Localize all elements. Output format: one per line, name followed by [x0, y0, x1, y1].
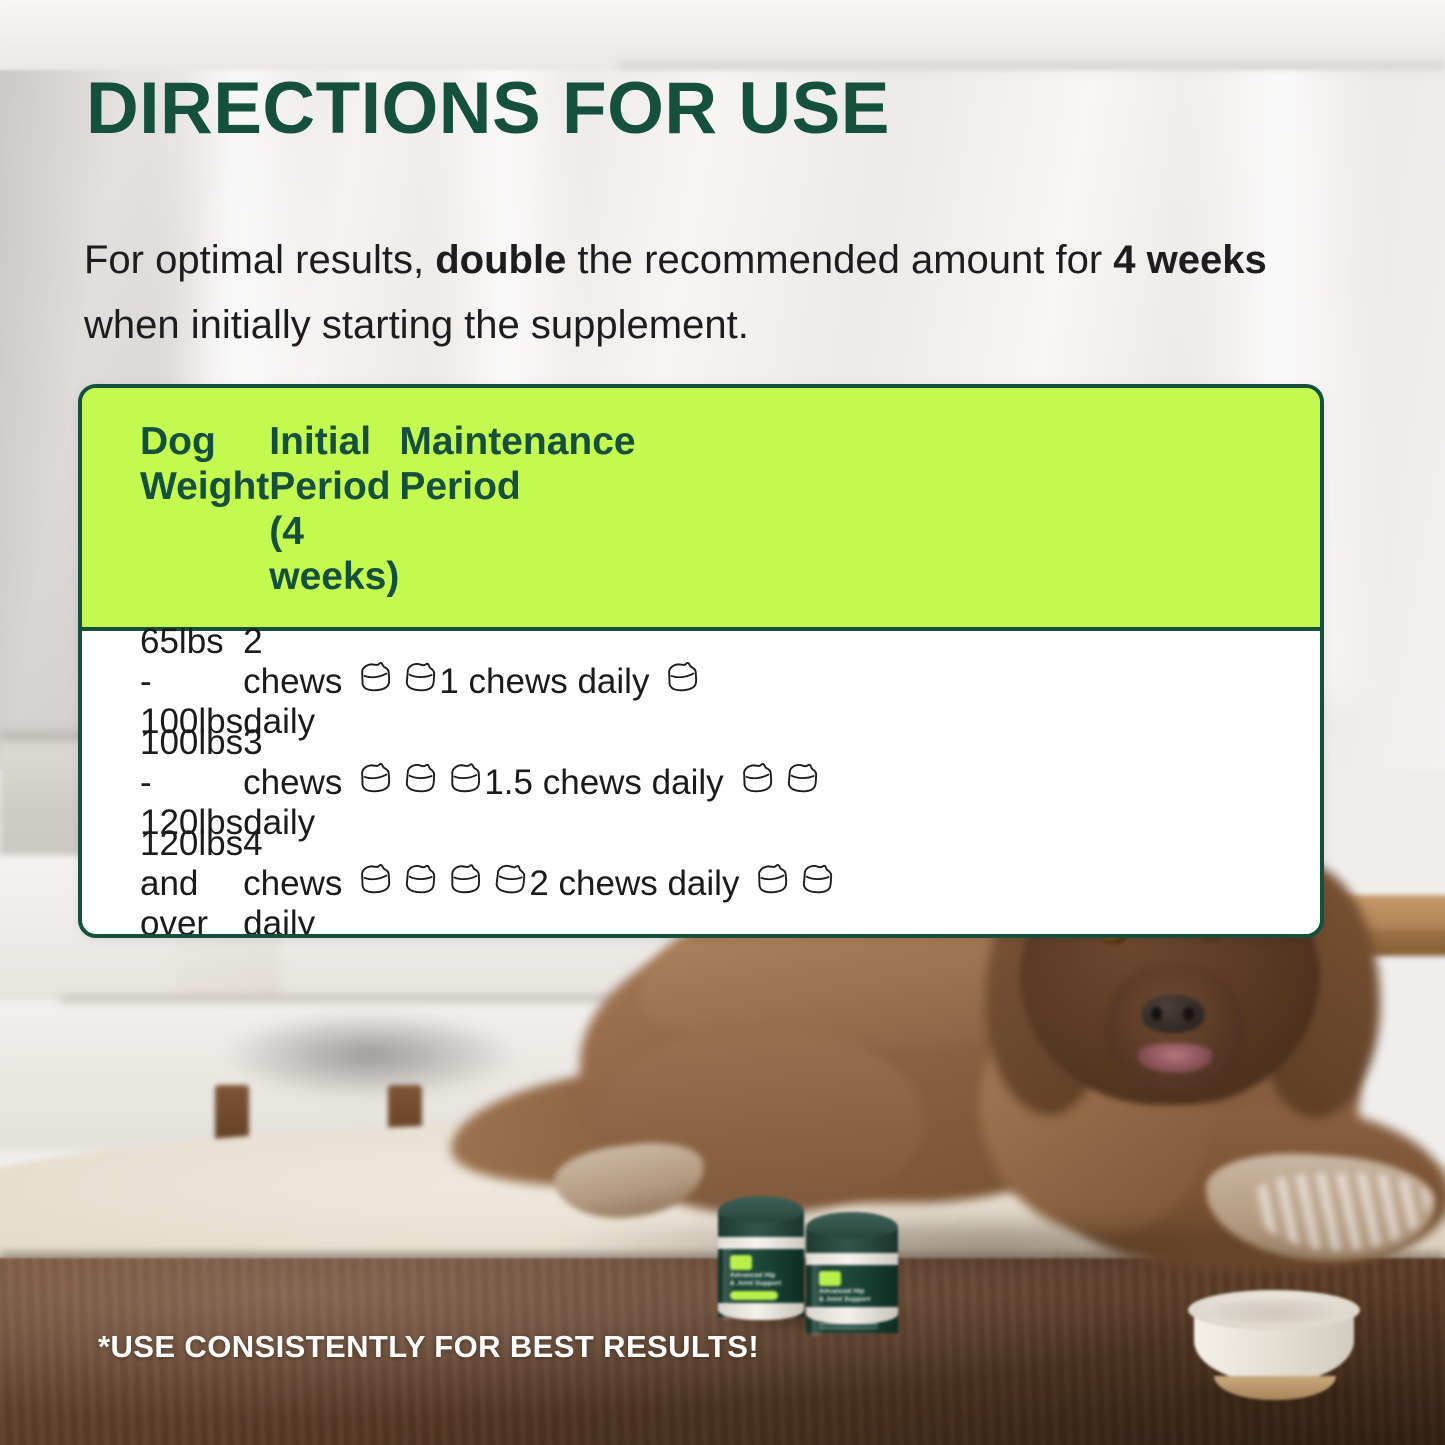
table-row: 65lbs - 100lbs 2 chews daily 1 chews dai…	[82, 631, 1320, 732]
chew-treat-icon	[356, 661, 394, 702]
chew-icon-group	[663, 661, 701, 702]
column-header-dog-weight: Dog Weight	[82, 420, 269, 599]
cell-initial-dose: 4 chews daily	[243, 824, 529, 939]
chew-treat-icon	[798, 863, 836, 904]
chew-treat-icon	[753, 863, 791, 904]
cell-maintenance-dose: 1 chews daily	[439, 661, 1320, 702]
column-header-initial-line2: (4 weeks)	[269, 510, 399, 600]
column-header-maintenance-line1: Maintenance	[399, 420, 1320, 465]
chew-treat-icon	[738, 762, 776, 803]
column-header-maintenance-line2: Period	[399, 465, 1320, 510]
column-header-initial-line1: Initial Period	[269, 420, 399, 510]
cell-dog-weight: 120lbs and over	[82, 824, 243, 939]
chew-treat-icon	[783, 762, 821, 803]
chew-treat-icon	[663, 661, 701, 702]
column-header-initial-period: Initial Period (4 weeks)	[269, 420, 399, 599]
subtitle-emphasis-weeks: 4 weeks	[1113, 238, 1266, 282]
maintenance-dose-text: 1 chews daily	[439, 662, 649, 702]
chew-icon-group	[356, 762, 484, 803]
subtitle-emphasis-double: double	[435, 238, 566, 282]
page-title: DIRECTIONS FOR USE	[86, 72, 890, 145]
subtitle-text-1: For optimal results,	[84, 238, 435, 282]
chew-treat-icon	[356, 762, 394, 803]
dosage-table: Dog Weight Initial Period (4 weeks) Main…	[78, 384, 1324, 938]
chew-treat-icon	[446, 863, 484, 904]
initial-dose-text: 4 chews daily	[243, 824, 342, 939]
chew-treat-icon	[401, 863, 439, 904]
cell-maintenance-dose: 2 chews daily	[529, 863, 1320, 904]
table-row: 100lbs - 120lbs 3 chews daily 1.5 chews …	[82, 732, 1320, 833]
subtitle-text-3: when initially starting the supplement.	[84, 303, 749, 347]
table-row: 120lbs and over 4 chews daily 2 chews da…	[82, 833, 1320, 934]
maintenance-dose-text: 2 chews daily	[529, 864, 739, 904]
chew-treat-icon	[401, 762, 439, 803]
footnote: *USE CONSISTENTLY FOR BEST RESULTS!	[98, 1329, 759, 1365]
chew-icon-group	[356, 863, 529, 904]
instruction-subtitle: For optimal results, double the recommen…	[84, 228, 1299, 358]
chew-icon-group	[753, 863, 836, 904]
chew-treat-icon	[446, 762, 484, 803]
subtitle-text-2: the recommended amount for	[566, 238, 1113, 282]
chew-treat-icon	[356, 863, 394, 904]
maintenance-dose-text: 1.5 chews daily	[484, 763, 723, 803]
chew-treat-icon	[491, 863, 529, 904]
chew-icon-group	[356, 661, 439, 702]
chew-icon-group	[738, 762, 821, 803]
chew-treat-icon	[401, 661, 439, 702]
cell-maintenance-dose: 1.5 chews daily	[484, 762, 1320, 803]
column-header-maintenance-period: Maintenance Period	[399, 420, 1320, 599]
table-header-row: Dog Weight Initial Period (4 weeks) Main…	[82, 388, 1320, 631]
